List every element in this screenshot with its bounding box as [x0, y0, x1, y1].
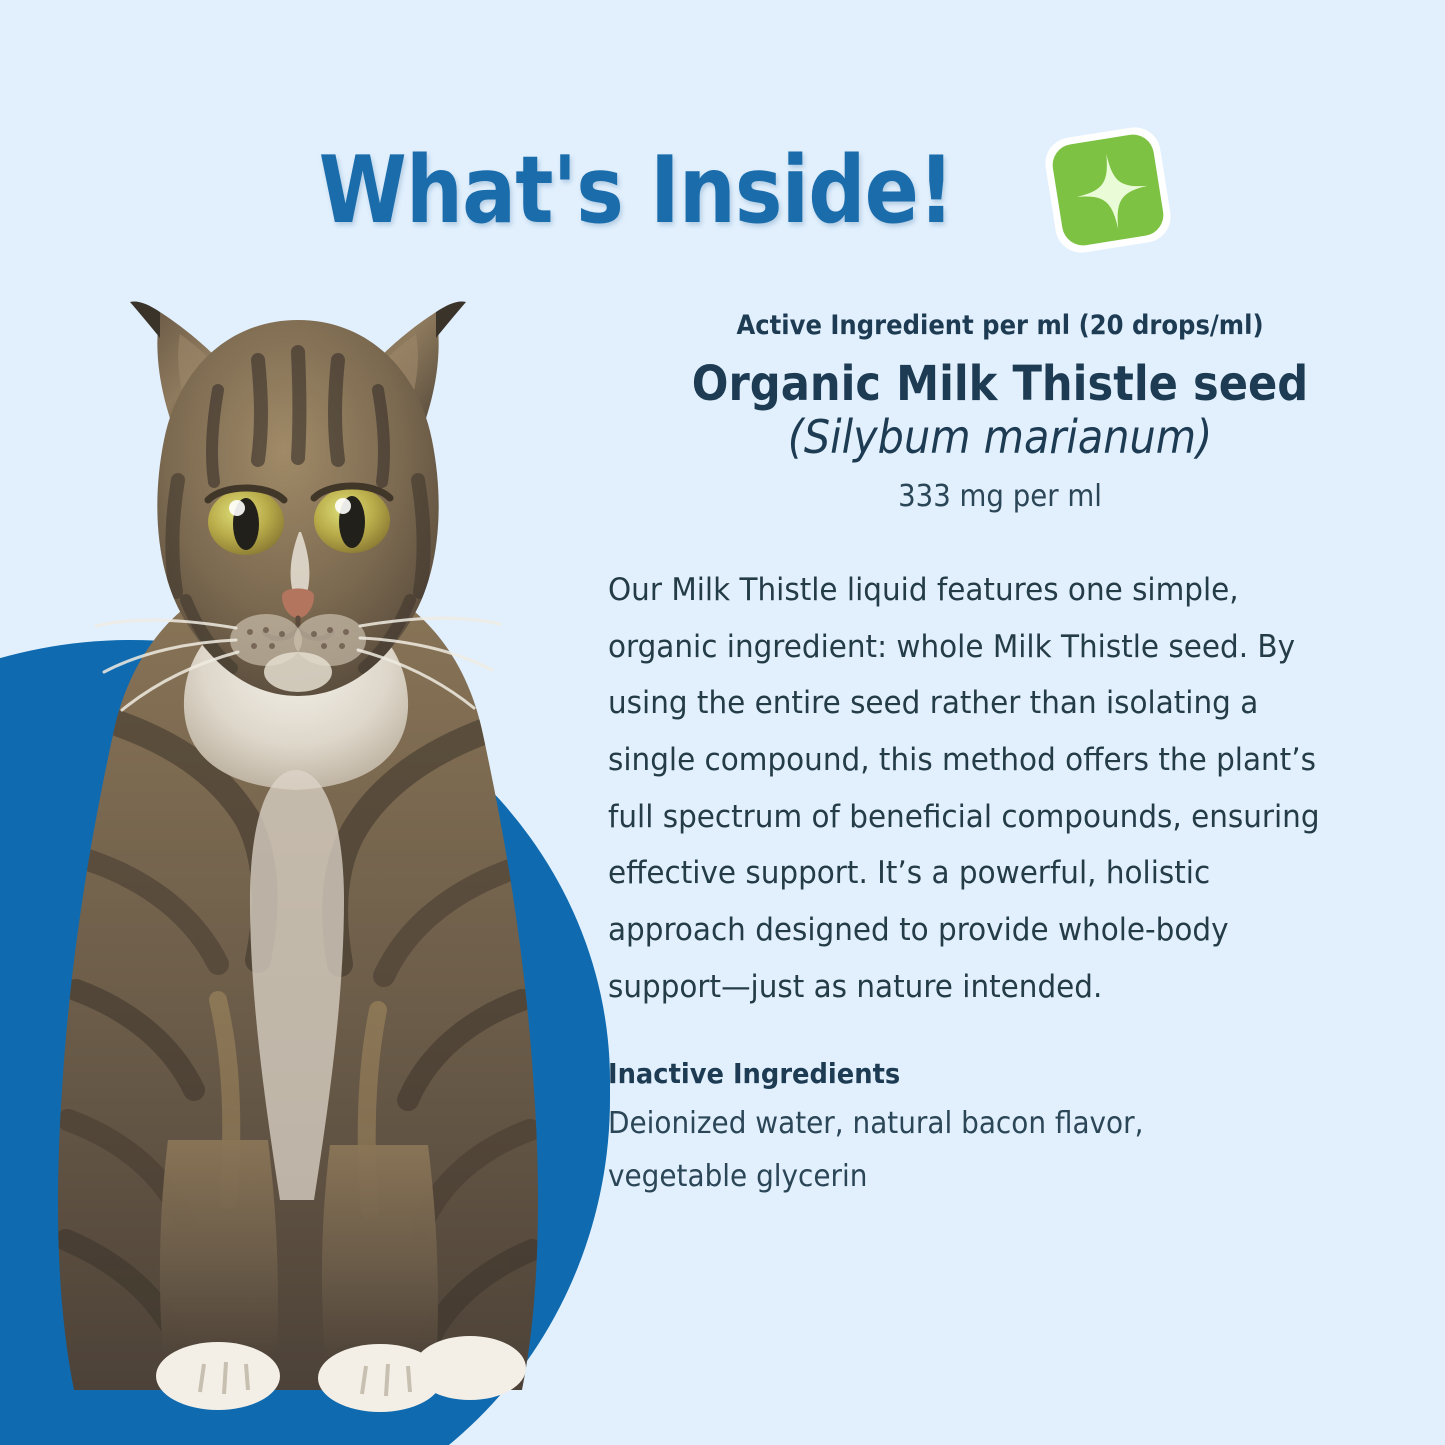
maine-coon-cat-photo — [18, 300, 578, 1430]
description-paragraph: Our Milk Thistle liquid features one sim… — [608, 562, 1347, 1016]
active-ingredient-dosage: 333 mg per ml — [632, 479, 1368, 514]
ingredients-content: Active Ingredient per ml (20 drops/ml) O… — [600, 310, 1400, 1203]
product-ingredients-poster: What's Inside! Active Ingredient per ml … — [0, 0, 1445, 1445]
inactive-ingredients-list: Deionized water, natural bacon flavor, v… — [608, 1098, 1259, 1203]
active-ingredient-label: Active Ingredient per ml (20 drops/ml) — [640, 310, 1360, 341]
inactive-ingredients-heading: Inactive Ingredients — [608, 1057, 1337, 1090]
page-title: What's Inside! — [319, 144, 954, 237]
sparkle-icon — [1038, 120, 1178, 260]
sparkle-badge — [1038, 120, 1178, 260]
header: What's Inside! — [0, 100, 1445, 280]
active-ingredient-latin-name: (Silybum marianum) — [640, 412, 1360, 463]
active-ingredient-name: Organic Milk Thistle seed — [640, 359, 1360, 410]
